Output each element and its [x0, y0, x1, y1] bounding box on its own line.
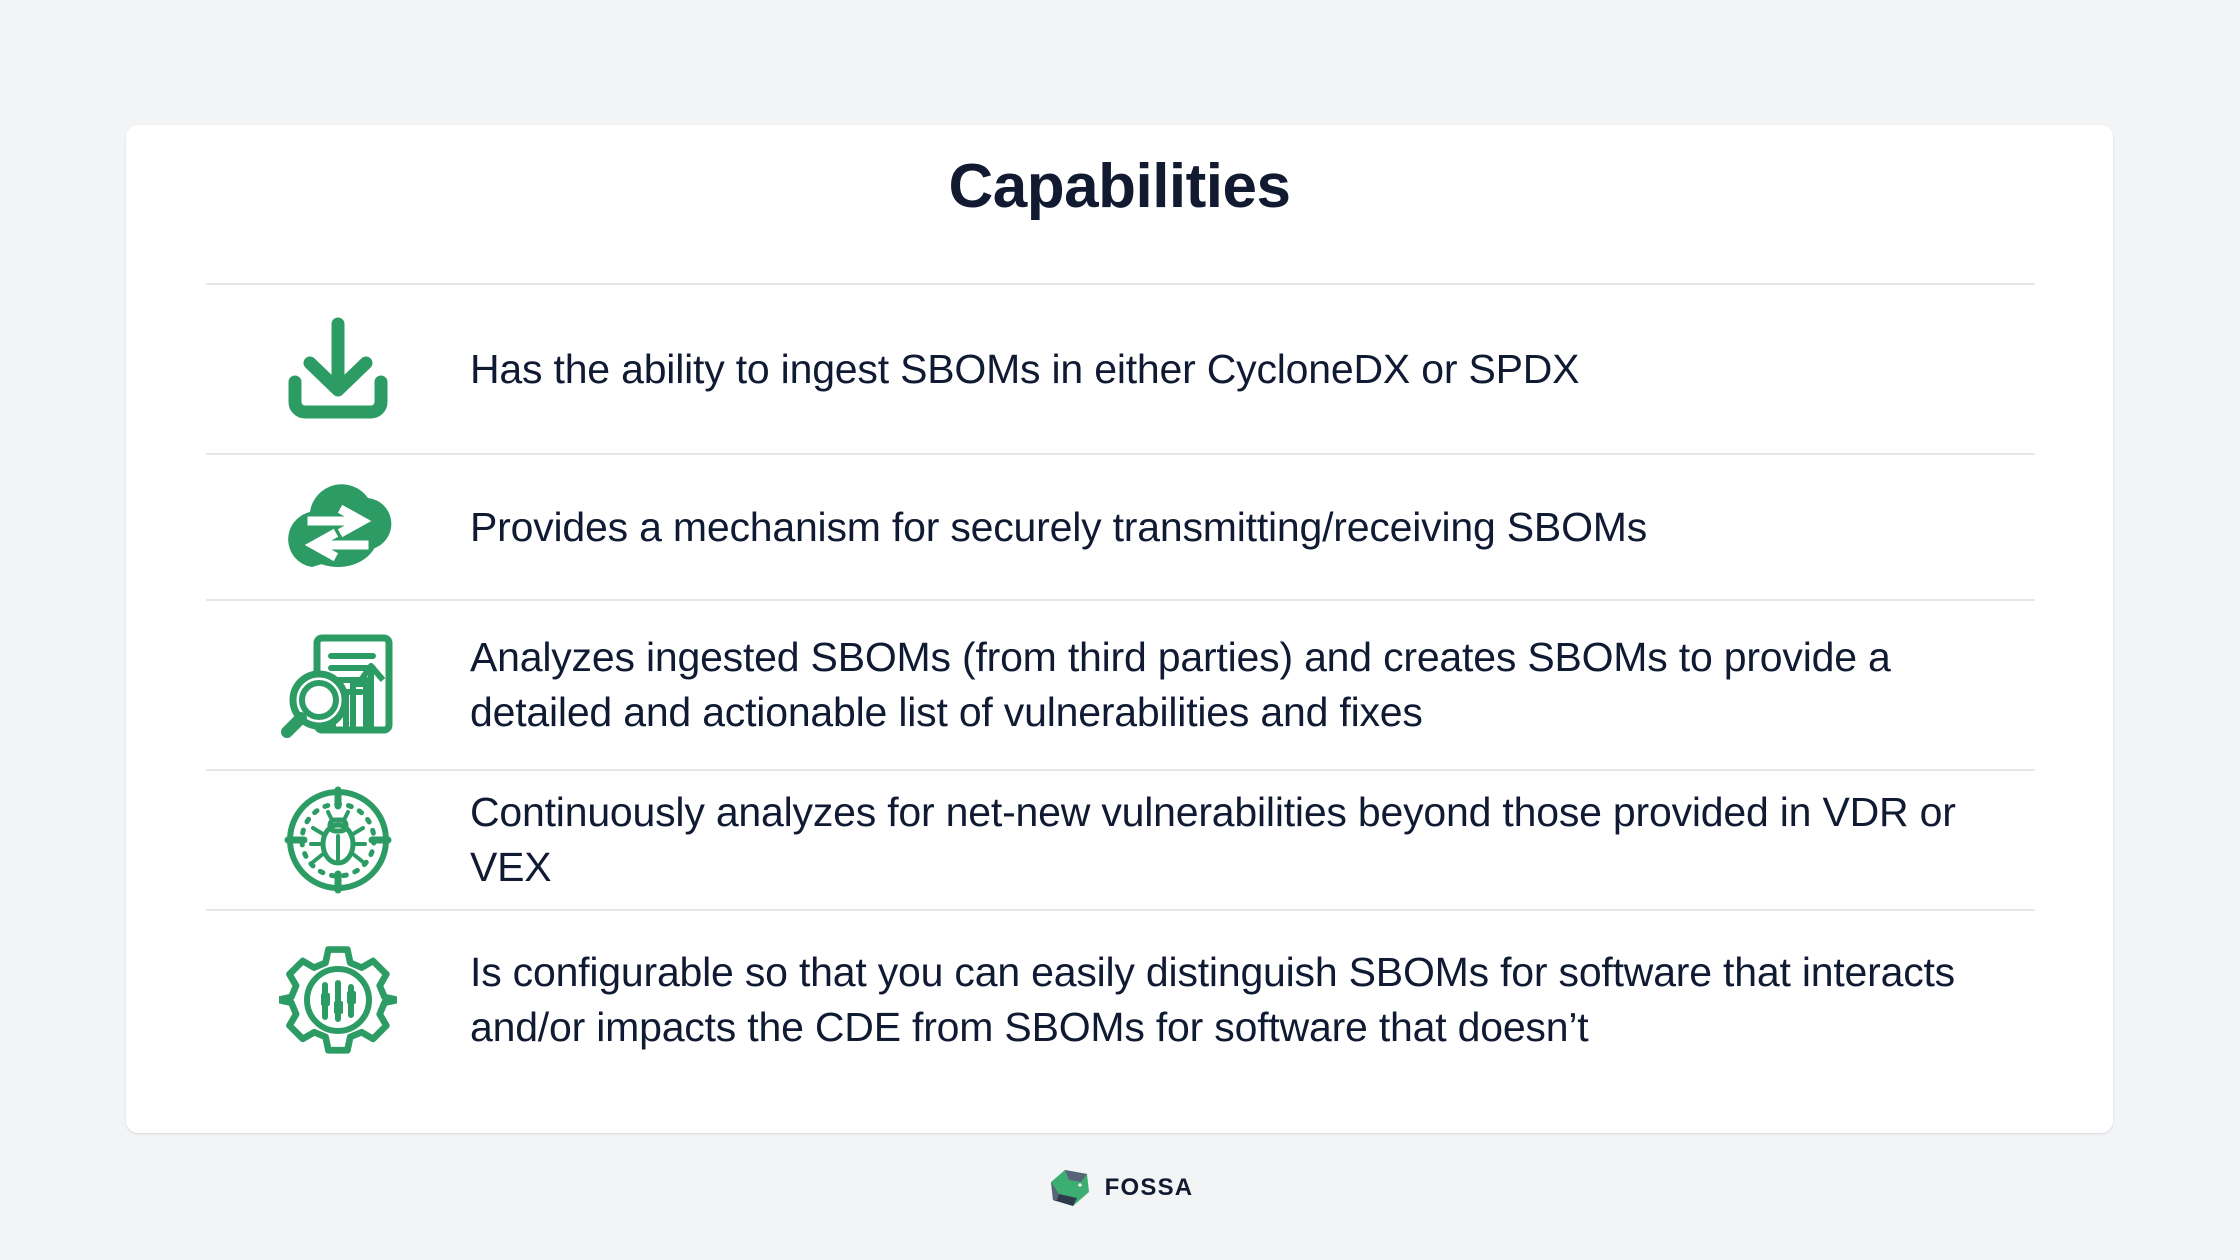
capability-text: Has the ability to ingest SBOMs in eithe… — [470, 342, 2035, 397]
capability-text: Provides a mechanism for securely transm… — [470, 500, 2035, 555]
capability-text: Continuously analyzes for net-new vulner… — [470, 785, 2035, 894]
capability-row: Has the ability to ingest SBOMs in eithe… — [206, 283, 2035, 453]
page-title: Capabilities — [126, 151, 2113, 222]
fossa-wordmark: FOSSA — [1105, 1174, 1194, 1202]
slide-canvas: Capabilities Has the ability to ingest S… — [0, 0, 2240, 1260]
cloud-transfer-icon — [206, 475, 470, 579]
fossa-animal-logo-icon — [1047, 1168, 1093, 1208]
capability-text: Is configurable so that you can easily d… — [470, 945, 2035, 1054]
download-tray-icon — [206, 314, 470, 424]
capability-row: Is configurable so that you can easily d… — [206, 909, 2035, 1089]
capabilities-list: Has the ability to ingest SBOMs in eithe… — [206, 283, 2035, 1089]
bug-target-icon — [206, 784, 470, 896]
gear-sliders-icon — [206, 941, 470, 1059]
capability-row: Provides a mechanism for securely transm… — [206, 453, 2035, 599]
capability-text: Analyzes ingested SBOMs (from third part… — [470, 630, 2035, 739]
capability-row: Analyzes ingested SBOMs (from third part… — [206, 599, 2035, 769]
capabilities-card: Capabilities Has the ability to ingest S… — [126, 125, 2113, 1133]
document-analysis-magnifier-icon — [206, 626, 470, 744]
footer-logo: FOSSA — [0, 1168, 2240, 1208]
capability-row: Continuously analyzes for net-new vulner… — [206, 769, 2035, 909]
